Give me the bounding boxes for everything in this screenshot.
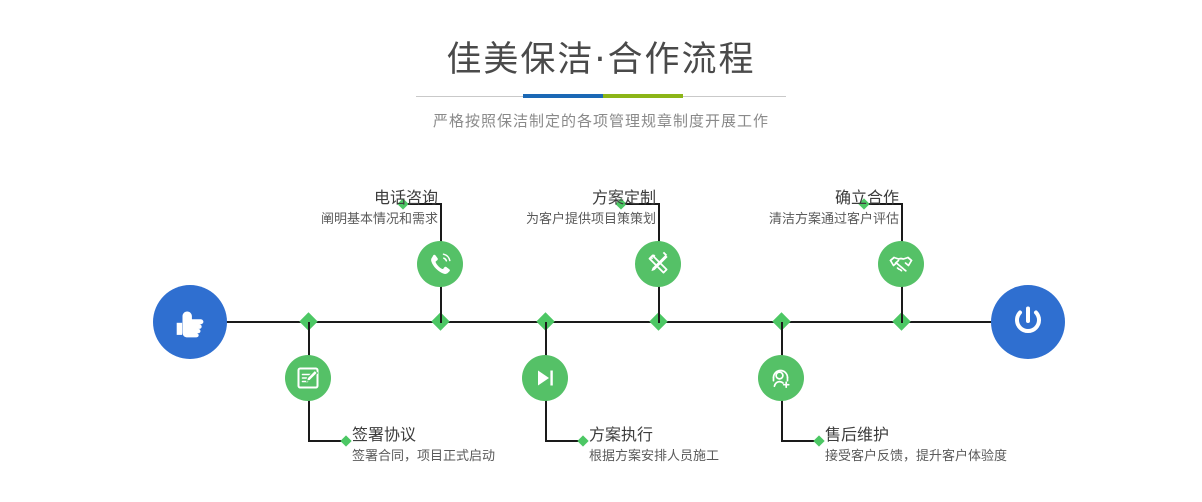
step-5-title: 确立合作	[769, 187, 899, 209]
pencil-ruler-icon	[644, 250, 672, 278]
pointing-hand-icon	[170, 302, 210, 342]
document-sign-icon	[295, 365, 321, 391]
step-1-desc: 阐明基本情况和需求	[321, 209, 438, 231]
play-execute-icon	[532, 365, 558, 391]
timeline-start-endpoint[interactable]	[153, 285, 227, 359]
support-agent-icon	[768, 365, 794, 391]
step-5-text: 确立合作 清洁方案通过客户评估	[769, 187, 899, 231]
step-3-text: 方案定制 为客户提供项目策策划	[526, 187, 656, 231]
step-4-icon-badge[interactable]	[522, 355, 568, 401]
timeline-end-endpoint[interactable]	[991, 285, 1065, 359]
power-button-icon	[1007, 301, 1049, 343]
step-1-text: 电话咨询 阐明基本情况和需求	[321, 187, 438, 231]
step-5-icon-badge[interactable]	[878, 241, 924, 287]
handshake-icon	[887, 250, 915, 278]
step-4-text: 方案执行 根据方案安排人员施工	[589, 424, 719, 468]
step-3-desc: 为客户提供项目策策划	[526, 209, 656, 231]
step-4-desc: 根据方案安排人员施工	[589, 446, 719, 468]
step-2-desc: 签署合同，项目正式启动	[352, 446, 495, 468]
step-2-tip-node	[340, 435, 351, 446]
step-3-title: 方案定制	[526, 187, 656, 209]
step-6-desc: 接受客户反馈，提升客户体验度	[825, 446, 1007, 468]
step-5-desc: 清洁方案通过客户评估	[769, 209, 899, 231]
step-2-text: 签署协议 签署合同，项目正式启动	[352, 424, 495, 468]
process-flow-infographic: 佳美保洁·合作流程 严格按照保洁制定的各项管理规章制度开展工作	[0, 0, 1202, 502]
step-6-tip-node	[813, 435, 824, 446]
step-6-text: 售后维护 接受客户反馈，提升客户体验度	[825, 424, 1007, 468]
step-6-horizontal-line	[781, 440, 817, 442]
step-6-title: 售后维护	[825, 424, 1007, 446]
step-4-title: 方案执行	[589, 424, 719, 446]
step-6-icon-badge[interactable]	[758, 355, 804, 401]
step-1-icon-badge[interactable]	[417, 241, 463, 287]
phone-call-icon	[426, 250, 454, 278]
step-3-icon-badge[interactable]	[635, 241, 681, 287]
step-1-title: 电话咨询	[321, 187, 438, 209]
step-4-tip-node	[577, 435, 588, 446]
step-2-horizontal-line	[308, 440, 344, 442]
step-2-title: 签署协议	[352, 424, 495, 446]
step-2-icon-badge[interactable]	[285, 355, 331, 401]
step-4-horizontal-line	[545, 440, 581, 442]
timeline: 电话咨询 阐明基本情况和需求 签署协议 签署合同，项目正式启动	[0, 0, 1202, 502]
